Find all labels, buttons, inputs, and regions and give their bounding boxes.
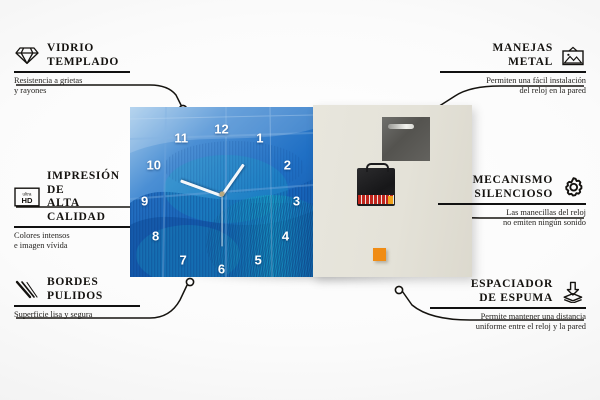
foam-spacer-pad	[373, 248, 386, 261]
movement-battery-chip	[388, 196, 393, 204]
clock-numeral-6: 6	[218, 262, 225, 275]
feature-title: MECANISMO SILENCIOSO	[473, 174, 553, 201]
foam-spacer-icon	[560, 281, 586, 303]
feature-title: ESPACIADOR DE ESPUMA	[471, 278, 553, 305]
feature-title: VIDRIO TEMPLADO	[47, 42, 119, 69]
svg-text:HD: HD	[22, 196, 33, 205]
feature-rule	[440, 71, 586, 73]
clock-numeral-11: 11	[174, 131, 188, 144]
feature-rule	[14, 305, 140, 307]
feature-rule	[14, 226, 130, 228]
feature-title: BORDES PULIDOS	[47, 276, 103, 303]
feature-subtitle: Superficie lisa y segura	[14, 310, 148, 320]
feature-rule	[14, 71, 130, 73]
feature-vidrio-templado: VIDRIO TEMPLADO Resistencia a grietas y …	[14, 42, 138, 96]
infographic-canvas: 12 1 2 3 4 5 6 7 8 9 10 11	[0, 0, 600, 400]
product-image: 12 1 2 3 4 5 6 7 8 9 10 11	[130, 105, 472, 277]
feature-mecanismo-silencioso: MECANISMO SILENCIOSO Las manecillas del …	[438, 174, 586, 228]
feature-rule	[430, 307, 586, 309]
feature-subtitle: Permiten una fácil instalación del reloj…	[440, 76, 586, 97]
gear-icon	[560, 177, 586, 199]
wall-mount-icon	[560, 45, 586, 67]
clock-numeral-1: 1	[256, 131, 263, 144]
quartz-movement	[357, 168, 395, 206]
clock-center-hub	[219, 191, 224, 196]
clock-second-hand	[221, 194, 222, 246]
diamond-icon	[14, 45, 40, 67]
metal-hanger-plate	[382, 117, 430, 161]
ultra-hd-icon: ultra HD	[14, 186, 40, 208]
clock-numeral-5: 5	[254, 254, 261, 267]
clock-numeral-10: 10	[147, 158, 161, 171]
clock-numeral-3: 3	[293, 194, 300, 207]
feature-impresion-alta-calidad: ultra HD IMPRESIÓN DE ALTA CALIDAD Color…	[14, 170, 138, 251]
feature-bordes-pulidos: BORDES PULIDOS Superficie lisa y segura	[14, 276, 148, 320]
clock-numeral-7: 7	[179, 254, 186, 267]
feature-title: IMPRESIÓN DE ALTA CALIDAD	[47, 170, 138, 224]
feature-subtitle: Colores intensos e imagen vívida	[14, 231, 138, 252]
feature-espaciador-espuma: ESPACIADOR DE ESPUMA Permite mantener un…	[430, 278, 586, 332]
glass-clock-face: 12 1 2 3 4 5 6 7 8 9 10 11	[130, 107, 313, 277]
feature-subtitle: Las manecillas del reloj no emiten ningú…	[438, 208, 586, 229]
feature-manejas-metal: MANEJAS METAL Permiten una fácil instala…	[440, 42, 586, 96]
feature-rule	[438, 203, 586, 205]
polished-edges-icon	[14, 279, 40, 301]
clock-numeral-4: 4	[282, 230, 289, 243]
clock-numeral-12: 12	[214, 123, 228, 136]
clock-numeral-9: 9	[141, 194, 148, 207]
clock-numeral-8: 8	[152, 230, 159, 243]
feature-title: MANEJAS METAL	[493, 42, 554, 69]
clock-numeral-2: 2	[284, 158, 291, 171]
feature-subtitle: Permite mantener una distancia uniforme …	[430, 312, 586, 333]
movement-handle	[366, 163, 389, 172]
feature-subtitle: Resistencia a grietas y rayones	[14, 76, 138, 97]
hanger-keyhole-slot	[388, 124, 414, 129]
